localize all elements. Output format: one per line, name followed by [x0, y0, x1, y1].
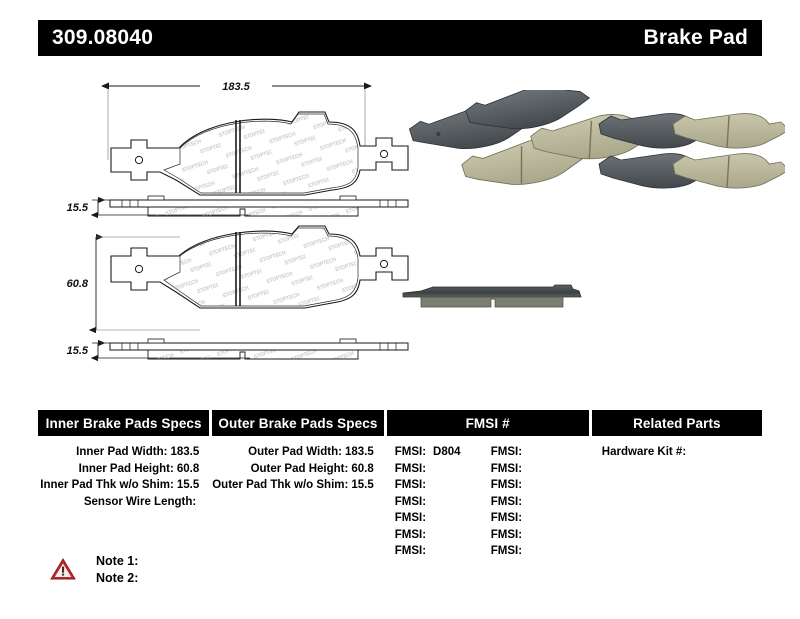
fmsi-value [426, 463, 433, 475]
spec-value: 60.8 [348, 463, 373, 475]
fmsi-label: FMSI: [491, 446, 522, 458]
spec-table-header-row: Inner Brake Pads Specs Outer Brake Pads … [38, 410, 762, 436]
width-dimension-value-top: 183.5 [222, 81, 250, 93]
fmsi-subcolumn-left: FMSI:D804 FMSI: FMSI: FMSI: FMSI: [395, 444, 491, 560]
inner-specs-column: Inner Pad Width:183.5 Inner Pad Height:6… [38, 444, 209, 560]
fmsi-label: FMSI: [395, 479, 426, 491]
spec-value [196, 496, 199, 508]
brake-pad-side-view-bottom [110, 339, 408, 359]
thickness-dimension-value-bottom: 15.5 [67, 345, 89, 357]
fmsi-value [426, 545, 433, 557]
spec-label: Outer Pad Height: [251, 463, 349, 475]
brake-pad-side-view-top [110, 196, 408, 216]
fmsi-label: FMSI: [395, 529, 426, 541]
brake-pad-plan-view-top [111, 112, 408, 195]
spec-row: Inner Pad Height:60.8 [38, 461, 209, 478]
fmsi-row: FMSI: [491, 477, 587, 494]
notes-section: Note 1: Note 2: [50, 553, 138, 587]
fmsi-value [522, 463, 529, 475]
fmsi-row: FMSI: [491, 494, 587, 511]
fmsi-column: FMSI:D804 FMSI: FMSI: FMSI: FMSI: [387, 444, 589, 560]
column-header-related-parts: Related Parts [592, 410, 762, 436]
spec-label: Inner Pad Height: [79, 463, 174, 475]
fmsi-label: FMSI: [395, 512, 426, 524]
spec-row: Sensor Wire Length: [38, 494, 209, 511]
header-bar: 309.08040 Brake Pad [38, 20, 762, 56]
related-part-label: Hardware Kit #: [602, 446, 686, 458]
spec-label: Outer Pad Thk w/o Shim: [212, 479, 348, 491]
column-header-inner-specs: Inner Brake Pads Specs [38, 410, 209, 436]
fmsi-row: FMSI:D804 [395, 444, 491, 461]
fmsi-row: FMSI: [395, 510, 491, 527]
spec-row: Outer Pad Height:60.8 [212, 461, 384, 478]
column-header-outer-specs: Outer Brake Pads Specs [212, 410, 383, 436]
spec-label: Outer Pad Width: [248, 446, 342, 458]
fmsi-value [522, 479, 529, 491]
fmsi-label: FMSI: [395, 463, 426, 475]
fmsi-subcolumn-right: FMSI: FMSI: FMSI: FMSI: FMSI: [491, 444, 587, 560]
fmsi-label: FMSI: [491, 479, 522, 491]
spec-value: 60.8 [174, 463, 199, 475]
fmsi-label: FMSI: [491, 529, 522, 541]
thickness-dimension-value-top: 15.5 [67, 202, 89, 214]
fmsi-row: FMSI: [491, 527, 587, 544]
fmsi-value [522, 496, 529, 508]
fmsi-value [522, 529, 529, 541]
spec-row: Inner Pad Thk w/o Shim:15.5 [38, 477, 209, 494]
fmsi-value [522, 545, 529, 557]
note-list: Note 1: Note 2: [96, 553, 138, 587]
fmsi-label: FMSI: [395, 446, 426, 458]
related-parts-column: Hardware Kit #: [592, 444, 762, 560]
warning-triangle-icon [50, 557, 76, 581]
fmsi-label: FMSI: [491, 512, 522, 524]
fmsi-grid: FMSI:D804 FMSI: FMSI: FMSI: FMSI: [387, 444, 589, 560]
spec-value: 15.5 [348, 479, 373, 491]
spec-value: 183.5 [342, 446, 374, 458]
part-number: 309.08040 [52, 26, 153, 50]
fmsi-row: FMSI: [395, 477, 491, 494]
note-item: Note 2: [96, 570, 138, 587]
fmsi-row: FMSI: [395, 527, 491, 544]
fmsi-label: FMSI: [491, 463, 522, 475]
spec-value: 183.5 [167, 446, 199, 458]
fmsi-label: FMSI: [395, 545, 426, 557]
fmsi-value: D804 [426, 446, 461, 458]
fmsi-value [426, 496, 433, 508]
fmsi-row: FMSI: [491, 510, 587, 527]
spec-label: Inner Pad Width: [76, 446, 167, 458]
photo-pad-edge-view [403, 285, 581, 307]
fmsi-row: FMSI: [491, 444, 587, 461]
fmsi-row: FMSI: [395, 461, 491, 478]
height-dimension-value: 60.8 [67, 278, 89, 290]
spec-row: Outer Pad Width:183.5 [212, 444, 384, 461]
brake-pad-plan-view-bottom [111, 226, 408, 308]
fmsi-value [426, 512, 433, 524]
spec-label: Sensor Wire Length: [84, 496, 196, 508]
product-type-label: Brake Pad [643, 26, 748, 50]
column-header-fmsi: FMSI # [387, 410, 589, 436]
spec-row: Inner Pad Width:183.5 [38, 444, 209, 461]
fmsi-row: FMSI: [491, 461, 587, 478]
fmsi-row: FMSI: [395, 494, 491, 511]
product-photos [395, 90, 785, 340]
fmsi-label: FMSI: [491, 545, 522, 557]
specification-table: Inner Brake Pads Specs Outer Brake Pads … [38, 410, 762, 560]
spec-value: 15.5 [174, 479, 199, 491]
fmsi-label: FMSI: [395, 496, 426, 508]
fmsi-row: FMSI: [395, 543, 491, 560]
spec-table-body: Inner Pad Width:183.5 Inner Pad Height:6… [38, 436, 762, 560]
note-item: Note 1: [96, 553, 138, 570]
spec-label: Inner Pad Thk w/o Shim: [40, 479, 174, 491]
outer-specs-column: Outer Pad Width:183.5 Outer Pad Height:6… [212, 444, 384, 560]
fmsi-row: FMSI: [491, 543, 587, 560]
fmsi-value [426, 529, 433, 541]
fmsi-value [522, 512, 529, 524]
fmsi-label: FMSI: [491, 496, 522, 508]
fmsi-value [522, 446, 529, 458]
spec-row: Outer Pad Thk w/o Shim:15.5 [212, 477, 384, 494]
fmsi-value [426, 479, 433, 491]
related-part-row: Hardware Kit #: [592, 444, 762, 461]
